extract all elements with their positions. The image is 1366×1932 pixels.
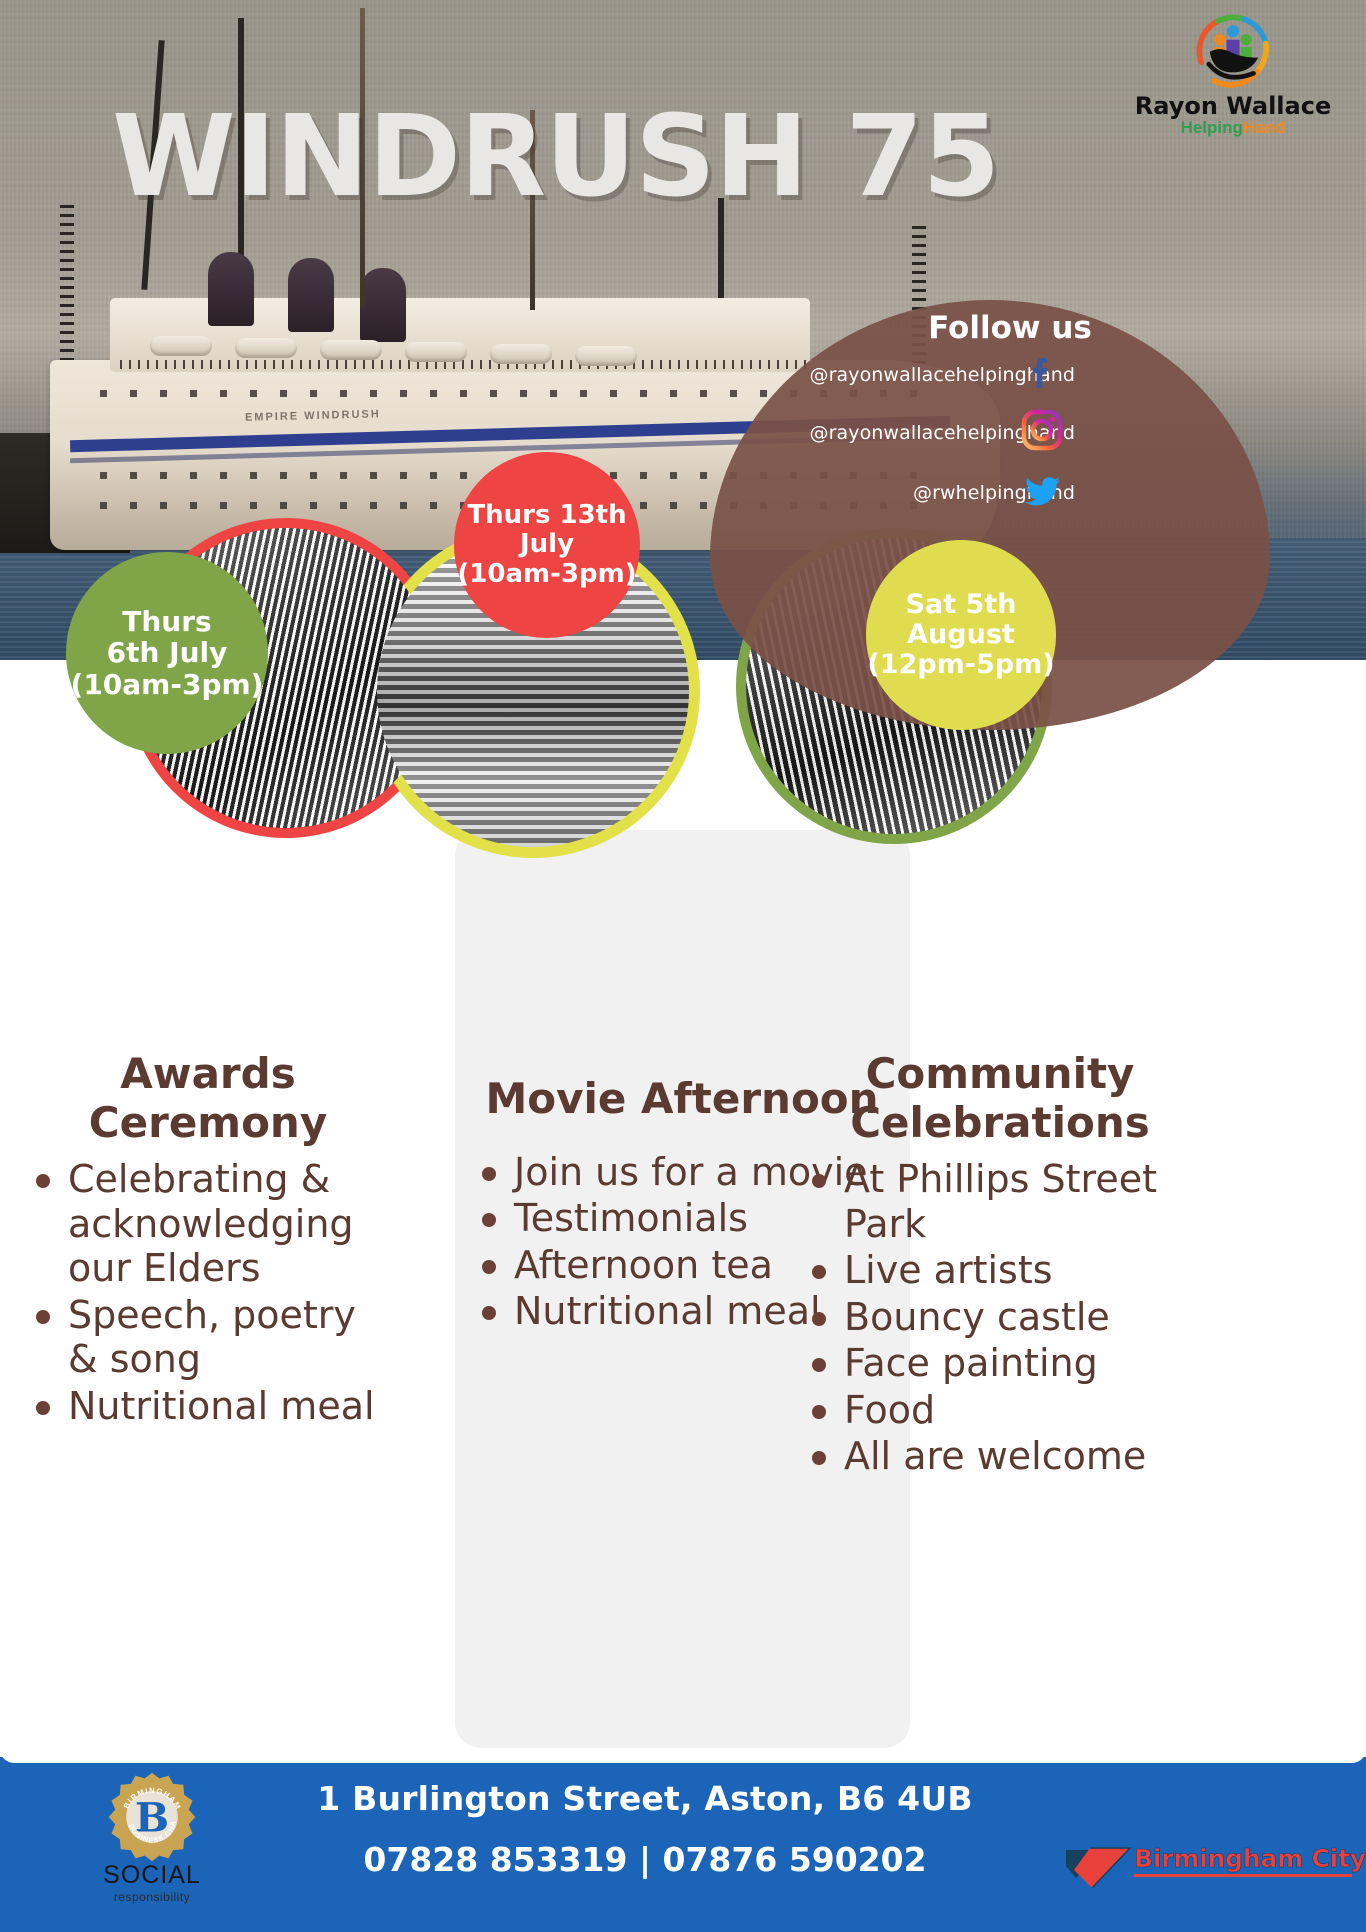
date-bubble-3-line2: August [867,620,1054,650]
column-3-title-line2: Celebrations [850,1098,1150,1147]
date-bubble-3: Sat 5th August (12pm-5pm) [866,540,1056,730]
birmingham-city-council-logo: Birmingham City Council [1062,1840,1352,1902]
date-bubble-3-line1: Sat 5th [867,590,1054,620]
list-item: All are welcome [800,1434,1200,1478]
column-3-title: Community Celebrations [800,1050,1200,1147]
date-bubble-2-line3: (10am-3pm) [457,560,636,589]
birmingham-city-council-underline [1134,1874,1352,1877]
date-bubble-1-line2: 6th July [71,637,264,668]
birmingham-city-council-name: Birmingham City Council [1134,1844,1366,1873]
column-1-list: Celebrating & acknowledging our Elders S… [24,1157,392,1428]
ship-funnel-2 [288,258,334,332]
footer-address: 1 Burlington Street, Aston, B6 4UB [250,1779,1040,1818]
list-item: Face painting [800,1341,1200,1385]
lifeboat-3 [320,340,382,360]
brand-name: Rayon Wallace [1118,94,1348,118]
list-item: At Phillips Street Park [800,1157,1200,1246]
brand-subtitle-part1: Helping [1181,118,1243,137]
list-item: Celebrating & acknowledging our Elders [24,1157,392,1290]
date-bubble-1-line1: Thurs [71,606,264,637]
lifeboat-4 [405,342,467,362]
column-community-celebrations: Community Celebrations At Phillips Stree… [800,1050,1200,1481]
column-1-title-line1: Awards [120,1049,295,1098]
rayon-wallace-helping-hand-logo-icon [1185,8,1281,92]
date-bubble-2-line1: Thurs 13th [457,501,636,530]
page-title: WINDRUSH 75 [112,92,999,222]
twitter-icon[interactable] [1020,468,1064,512]
lifeboat-6 [575,346,637,366]
lifeboat-1 [150,336,212,356]
column-1-title-line2: Ceremony [89,1098,327,1147]
date-bubble-3-line3: (12pm-5pm) [867,650,1054,680]
column-awards-ceremony: Awards Ceremony Celebrating & acknowledg… [24,1050,392,1430]
charter-word-social: SOCIAL [72,1861,232,1890]
brand-logo: Rayon Wallace HelpingHand [1118,8,1348,136]
instagram-icon[interactable] [1020,408,1064,452]
date-bubble-2: Thurs 13th July (10am-3pm) [454,452,640,638]
charter-word-responsibility: responsibility [72,1890,232,1904]
date-bubble-2-line2: July [457,530,636,559]
column-3-title-line1: Community [866,1049,1135,1098]
ship-funnel-3 [360,268,406,342]
footer-phones[interactable]: 07828 853319 | 07876 590202 [250,1840,1040,1879]
date-bubble-1: Thurs 6th July (10am-3pm) [66,552,268,754]
footer-contact: 1 Burlington Street, Aston, B6 4UB 07828… [250,1779,1040,1879]
birmingham-business-charter-badge-icon: B BIRMINGHAM BUSINESS CHARTER [106,1771,198,1863]
list-item: Nutritional meal [24,1384,392,1428]
lifeboat-2 [235,338,297,358]
brand-subtitle-part2: Hand [1243,118,1286,137]
list-item: Live artists [800,1248,1200,1292]
facebook-icon[interactable] [1020,348,1064,392]
column-1-title: Awards Ceremony [24,1050,392,1147]
list-item: Bouncy castle [800,1295,1200,1339]
list-item: Food [800,1388,1200,1432]
footer-banner: B BIRMINGHAM BUSINESS CHARTER SOCIAL res… [0,1757,1366,1932]
ship-funnel-1 [208,252,254,326]
follow-us-title: Follow us [860,310,1160,346]
birmingham-city-council-logo-icon [1062,1844,1134,1896]
lifeboat-5 [490,344,552,364]
poster-root: EMPIRE WINDRUSH WINDRUSH 75 Rayon [0,0,1366,1932]
ship-deck-rail [120,360,810,369]
list-item: Speech, poetry & song [24,1293,392,1382]
date-bubble-1-line3: (10am-3pm) [71,669,264,700]
brand-subtitle: HelpingHand [1118,119,1348,136]
footer-top-notch [0,1749,1366,1763]
column-3-list: At Phillips Street Park Live artists Bou… [800,1157,1200,1478]
birmingham-business-charter-logo: B BIRMINGHAM BUSINESS CHARTER SOCIAL res… [72,1771,232,1904]
